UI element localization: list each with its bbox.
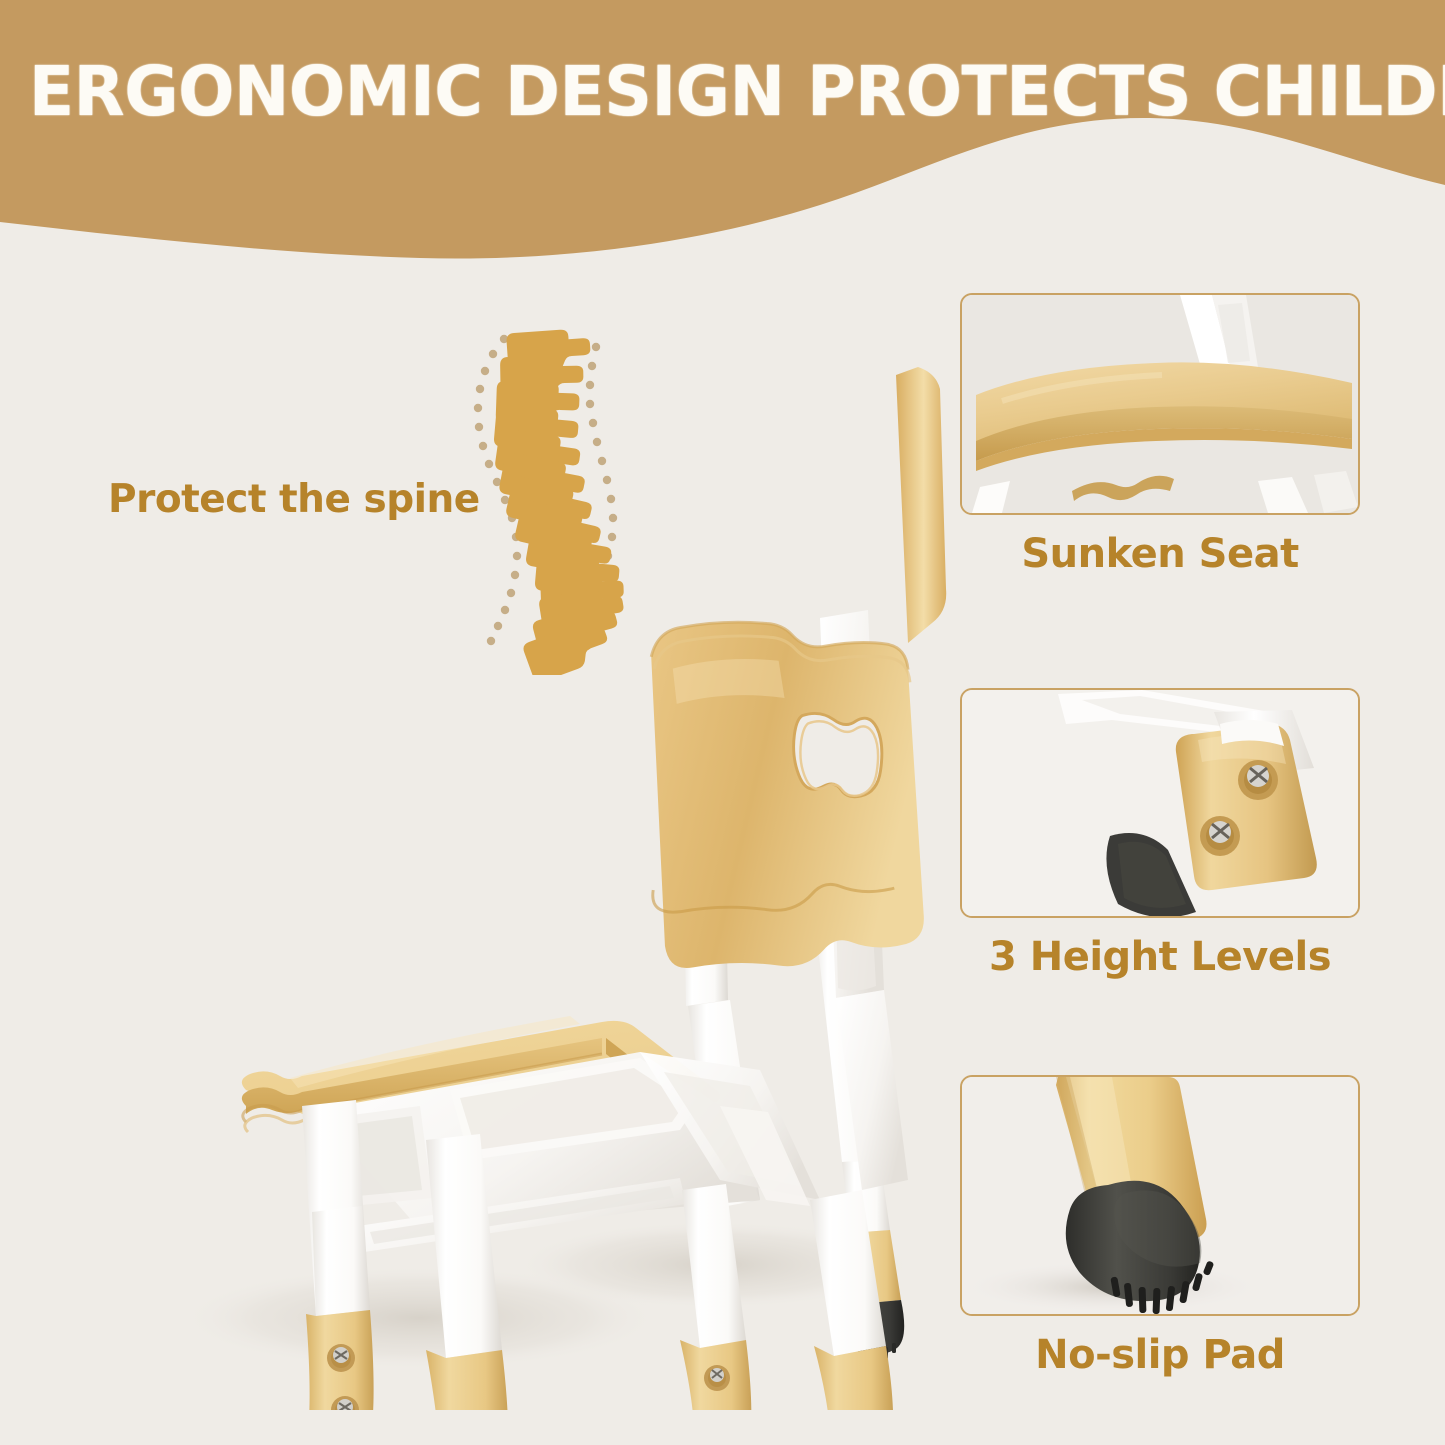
banner-wave-shape bbox=[0, 0, 1445, 265]
protect-spine-label: Protect the spine bbox=[108, 477, 480, 522]
feature-image-noslip-pad bbox=[960, 1075, 1360, 1316]
feature-caption-sunken-seat: Sunken Seat bbox=[960, 531, 1360, 577]
page-title: ERGONOMIC DESIGN PROTECTS CHILDREN bbox=[29, 52, 1416, 132]
spine-callout: Protect the spine bbox=[100, 325, 700, 695]
leg-screw bbox=[1200, 816, 1240, 856]
leg-screw bbox=[327, 1344, 355, 1372]
feature-card-noslip-pad: No-slip Pad bbox=[960, 1075, 1360, 1378]
leg-screw bbox=[704, 1365, 730, 1391]
leg-screw bbox=[1238, 760, 1278, 800]
feature-caption-noslip-pad: No-slip Pad bbox=[960, 1332, 1360, 1378]
spine-vertebrae bbox=[493, 328, 626, 675]
feature-image-sunken-seat bbox=[960, 293, 1360, 515]
feature-card-sunken-seat: Sunken Seat bbox=[960, 293, 1360, 577]
feature-card-height-levels: 3 Height Levels bbox=[960, 688, 1360, 980]
feature-image-height-levels bbox=[960, 688, 1360, 918]
header-banner bbox=[0, 0, 1445, 265]
feature-panels: Sunken Seat bbox=[960, 280, 1380, 1420]
feature-caption-height-levels: 3 Height Levels bbox=[960, 934, 1360, 980]
spine-icon bbox=[450, 325, 670, 675]
